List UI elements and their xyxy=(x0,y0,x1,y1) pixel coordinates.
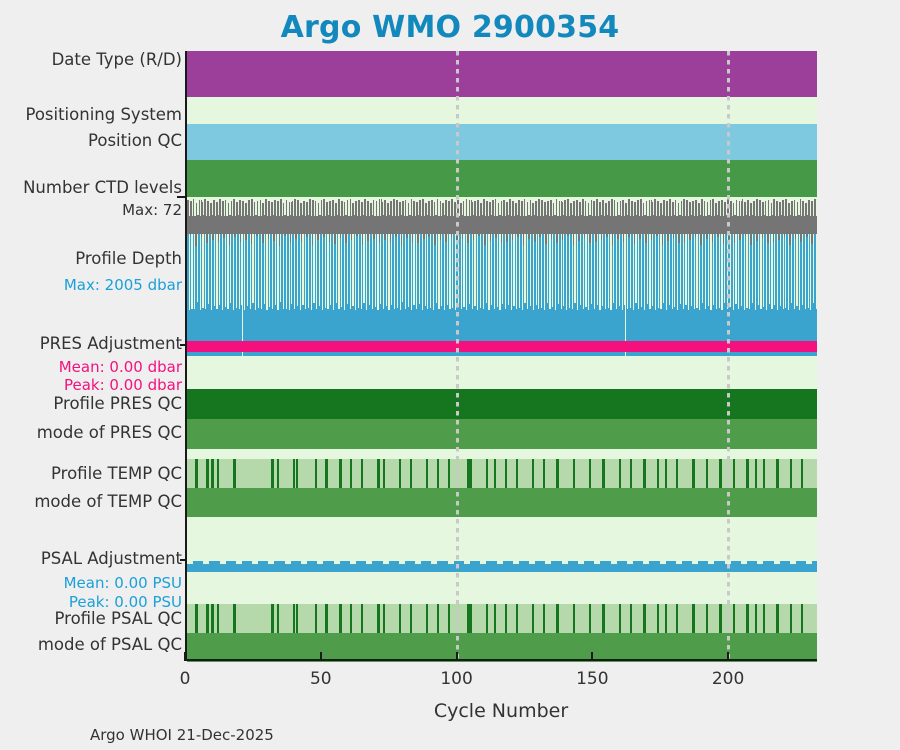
ylabel-ctd-max: Max: 72 xyxy=(122,203,182,218)
psal-adjustment-notch xyxy=(415,561,421,564)
bar-gap xyxy=(344,234,345,310)
band-positioning-system xyxy=(187,124,817,160)
bar-gap xyxy=(383,234,384,309)
bar-gap xyxy=(554,199,555,215)
bar-gap xyxy=(444,234,445,310)
bar-gap xyxy=(791,234,792,303)
bar-gap xyxy=(691,199,692,215)
bar-gap xyxy=(192,199,193,216)
bar-gap xyxy=(652,234,653,306)
bar-gap xyxy=(599,234,600,310)
bar-gap xyxy=(774,234,775,305)
bar-gap xyxy=(810,234,811,310)
bar-gap xyxy=(650,199,651,216)
psal-adjustment-notch xyxy=(806,561,812,564)
bar-gap xyxy=(485,199,486,216)
bar-gap xyxy=(544,234,545,310)
bar-gap xyxy=(241,234,242,305)
bar-gap xyxy=(419,234,420,304)
qc-stripe xyxy=(315,459,318,488)
qc-stripe xyxy=(296,604,299,633)
qc-stripe xyxy=(410,459,413,488)
bar-gap xyxy=(785,234,786,308)
bar-gap xyxy=(700,199,701,215)
bar-gap xyxy=(653,199,654,215)
bar-gap xyxy=(656,199,657,216)
ylabel-psal-mean: Mean: 0.00 PSU xyxy=(64,576,182,591)
bar-gap xyxy=(563,199,564,215)
bar-gap xyxy=(610,234,611,310)
bar-gap xyxy=(795,199,796,216)
qc-stripe xyxy=(665,459,668,488)
bar-gap xyxy=(708,234,709,306)
qc-stripe xyxy=(801,459,804,488)
bar-gap xyxy=(264,234,265,304)
bar-gap xyxy=(337,199,338,215)
bar-gap xyxy=(316,199,317,216)
bar-gap xyxy=(325,199,326,216)
bar-gap xyxy=(361,234,362,309)
bar-gap xyxy=(808,234,809,308)
bar-gap xyxy=(286,234,287,309)
bar-gap xyxy=(211,234,212,310)
qc-stripe xyxy=(377,604,380,633)
bar-gap xyxy=(810,199,811,216)
bar-gap xyxy=(331,199,332,216)
psal-adjustment-notch xyxy=(252,561,258,564)
psal-adjustment-notch xyxy=(366,561,372,564)
psal-adjustment-notch xyxy=(594,561,600,564)
bar-gap xyxy=(438,234,439,309)
bar-gap xyxy=(580,234,581,305)
bar-gap xyxy=(746,199,747,215)
bar-gap xyxy=(586,199,587,216)
bar-gap xyxy=(534,199,535,215)
bar-gap xyxy=(311,199,312,216)
bar-gap xyxy=(392,199,393,216)
bar-gap xyxy=(206,199,207,216)
bar-gap xyxy=(416,234,417,309)
bar-gap xyxy=(233,234,234,310)
x-tick-label-100: 100 xyxy=(417,669,497,689)
bar-gap xyxy=(723,199,724,216)
qc-stripe xyxy=(195,604,198,633)
ylabel-psal-adjustment: PSAL Adjustment xyxy=(41,551,182,568)
psal-adjustment-notch xyxy=(301,561,307,564)
psal-adjustment-notch xyxy=(383,561,389,564)
bar-gap xyxy=(239,234,240,309)
qc-stripe xyxy=(277,459,280,488)
qc-stripe xyxy=(325,459,328,488)
bar-gap xyxy=(476,199,477,216)
bar-gap xyxy=(766,199,767,216)
qc-stripe xyxy=(556,459,559,488)
bar-gap xyxy=(528,199,529,215)
bar-gap xyxy=(604,199,605,216)
bar-gap xyxy=(345,199,346,215)
bar-gap xyxy=(375,234,376,307)
bar-gap xyxy=(380,199,381,216)
x-tick-0 xyxy=(184,652,186,661)
bar-gap xyxy=(409,199,410,215)
bar-gap xyxy=(541,234,542,308)
psal-adjustment-notch xyxy=(187,561,193,564)
bar-gap xyxy=(658,234,659,308)
bar-gap xyxy=(589,199,590,215)
bar-gap xyxy=(252,234,253,303)
ylabel-mode-temp-qc: mode of TEMP QC xyxy=(34,494,182,511)
bar-gap xyxy=(232,199,233,216)
bar-gap xyxy=(469,234,470,304)
bar-gap xyxy=(366,234,367,310)
bar-gap xyxy=(805,234,806,309)
bar-gap xyxy=(499,234,500,310)
bar-gap xyxy=(480,234,481,308)
bar-gap xyxy=(215,199,216,216)
qc-stripe xyxy=(206,459,209,488)
bar-gap xyxy=(277,234,278,310)
bar-gap xyxy=(222,234,223,310)
bar-gap xyxy=(560,199,561,216)
bar-gap xyxy=(311,234,312,310)
bar-gap xyxy=(197,199,198,215)
bar-gap xyxy=(472,234,473,309)
qc-stripe xyxy=(361,459,364,488)
bar-gap xyxy=(397,234,398,308)
x-tick-150 xyxy=(591,652,593,661)
psal-adjustment-notch xyxy=(611,561,617,564)
x-axis-line xyxy=(185,659,817,661)
qc-stripe xyxy=(643,604,646,633)
bar-gap xyxy=(225,234,226,307)
ylabel-profile-pres-qc: Profile PRES QC xyxy=(53,396,182,413)
bar-gap xyxy=(449,234,450,309)
bar-gap xyxy=(287,199,288,216)
bar-gap xyxy=(641,234,642,307)
bar-gap xyxy=(255,199,256,215)
bar-gap xyxy=(372,199,373,215)
bar-gap xyxy=(247,199,248,215)
bar-gap xyxy=(491,199,492,215)
plot-area xyxy=(185,51,817,659)
x-tick-200 xyxy=(727,652,729,661)
bar-gap xyxy=(488,234,489,310)
bar-gap xyxy=(319,234,320,306)
bar-gap xyxy=(430,199,431,216)
bar-gap xyxy=(363,234,364,303)
bar-gap xyxy=(699,234,700,310)
bar-gap xyxy=(336,234,337,303)
bar-gap xyxy=(531,199,532,216)
bar-gap xyxy=(352,234,353,306)
bar-gap xyxy=(267,199,268,216)
bar-gap xyxy=(363,199,364,215)
bar-gap xyxy=(716,234,717,309)
bar-gap xyxy=(270,199,271,216)
bar-gap xyxy=(644,199,645,215)
bar-gap xyxy=(622,234,623,310)
bar-gap xyxy=(415,199,416,216)
psal-adjustment-notch xyxy=(741,561,747,564)
bar-gap xyxy=(269,234,270,307)
qc-stripe xyxy=(556,604,559,633)
bar-gap xyxy=(308,234,309,308)
psal-adjustment-notch xyxy=(317,561,323,564)
bar-gap xyxy=(772,199,773,215)
bar-gap xyxy=(585,234,586,307)
qc-stripe xyxy=(399,459,402,488)
bar-gap xyxy=(597,234,598,305)
bar-gap xyxy=(261,234,262,309)
bar-gap xyxy=(672,234,673,309)
qc-stripe xyxy=(296,459,299,488)
bar-gap xyxy=(575,199,576,216)
bar-gap xyxy=(250,199,251,216)
bar-gap xyxy=(798,199,799,215)
qc-stripe xyxy=(315,604,318,633)
bar-gap xyxy=(357,199,358,216)
bar-gap xyxy=(816,234,817,309)
bar-gap xyxy=(799,234,800,310)
psal-adjustment-notch xyxy=(350,561,356,564)
psal-adjustment-notch xyxy=(480,561,486,564)
bar-gap xyxy=(547,234,548,303)
bar-gap xyxy=(427,199,428,215)
band-mode-temp-qc xyxy=(187,488,817,517)
bar-gap xyxy=(202,234,203,308)
qc-stripe xyxy=(755,604,758,633)
bar-gap xyxy=(639,199,640,216)
band-profile-pres-qc xyxy=(187,389,817,419)
bar-gap xyxy=(230,234,231,303)
bar-gap xyxy=(549,234,550,309)
bar-gap xyxy=(708,199,709,215)
bar-gap xyxy=(355,234,356,310)
bar-gap xyxy=(577,234,578,310)
bar-gap xyxy=(272,234,273,309)
x-tick-50 xyxy=(320,652,322,661)
bar-gap xyxy=(325,234,326,308)
ylabel-pres-mean: Mean: 0.00 dbar xyxy=(59,360,182,375)
bar-gap xyxy=(418,199,419,215)
bar-gap xyxy=(655,234,656,310)
bar-gap xyxy=(680,234,681,304)
bar-gap xyxy=(299,199,300,216)
bar-gap xyxy=(569,234,570,308)
bar-gap xyxy=(208,234,209,304)
psal-adjustment-notch xyxy=(757,561,763,564)
bar-gap xyxy=(721,234,722,310)
bar-gap xyxy=(200,234,201,310)
bar-gap xyxy=(401,199,402,215)
bar-gap xyxy=(338,234,339,309)
bar-gap xyxy=(316,234,317,309)
ylabel-pres-peak: Peak: 0.00 dbar xyxy=(64,378,182,393)
bar-gap xyxy=(366,199,367,216)
bar-gap xyxy=(602,234,603,306)
qc-stripe xyxy=(206,604,209,633)
bar-gap xyxy=(660,234,661,309)
x-tick-label-0: 0 xyxy=(145,669,225,689)
psal-adjustment-notch xyxy=(708,561,714,564)
bar-gap xyxy=(197,234,198,302)
bar-gap xyxy=(314,199,315,216)
bar-gap xyxy=(422,234,423,310)
bar-gap xyxy=(194,234,195,309)
qc-stripe xyxy=(602,604,605,633)
bar-gap xyxy=(668,199,669,216)
bar-gap xyxy=(649,234,650,309)
bar-gap xyxy=(330,234,331,305)
bar-gap xyxy=(255,234,256,310)
psal-adjustment-notch xyxy=(578,561,584,564)
bar-gap xyxy=(794,234,795,309)
bar-gap xyxy=(283,234,284,309)
bar-gap xyxy=(538,234,539,309)
qc-stripe xyxy=(706,604,709,633)
bar-gap xyxy=(702,234,703,303)
bar-gap xyxy=(705,234,706,309)
bar-gap xyxy=(413,234,414,305)
bar-gap xyxy=(218,199,219,215)
bar-gap xyxy=(524,234,525,303)
bar-gap xyxy=(189,199,190,216)
band-position-qc xyxy=(187,160,817,197)
bar-gap xyxy=(607,199,608,215)
bar-gap xyxy=(244,234,245,310)
bar-gap xyxy=(388,234,389,310)
bar-gap xyxy=(663,234,664,303)
bar-gap xyxy=(613,199,614,216)
bar-gap xyxy=(511,234,512,310)
bar-gap xyxy=(735,234,736,304)
bar-gap xyxy=(734,199,735,215)
band-mode-pres-qc xyxy=(187,419,817,449)
qc-stripe xyxy=(350,604,353,633)
bar-gap xyxy=(189,234,190,310)
bar-gap xyxy=(360,199,361,216)
bar-gap xyxy=(552,234,553,307)
bar-gap xyxy=(386,234,387,306)
psal-adjustment-notch xyxy=(203,561,209,564)
bar-gap xyxy=(341,234,342,307)
ylabel-mode-psal-qc: mode of PSAL QC xyxy=(38,637,182,654)
qc-stripe xyxy=(271,604,274,633)
qc-stripe xyxy=(277,604,280,633)
bar-gap xyxy=(221,199,222,216)
bar-gap xyxy=(608,234,609,308)
qc-stripe xyxy=(383,604,386,633)
bar-gap xyxy=(494,234,495,309)
bar-gap xyxy=(574,234,575,303)
bar-gap xyxy=(697,199,698,216)
qc-stripe xyxy=(630,459,633,488)
bar-gap xyxy=(308,199,309,215)
bar-gap xyxy=(595,199,596,216)
qc-stripe xyxy=(602,459,605,488)
bar-gap xyxy=(616,234,617,309)
ylabel-date-type: Date Type (R/D) xyxy=(52,52,182,69)
bar-gap xyxy=(479,199,480,216)
bar-gap xyxy=(720,199,721,216)
bar-gap xyxy=(572,234,573,309)
ylabel-positioning: Positioning System xyxy=(25,107,182,124)
bar-gap xyxy=(775,199,776,216)
bar-gap xyxy=(264,199,265,215)
qc-stripe xyxy=(763,459,766,488)
qc-stripe xyxy=(211,604,214,633)
bar-gap xyxy=(647,234,648,304)
bar-gap xyxy=(760,234,761,309)
qc-stripe xyxy=(801,604,804,633)
bar-gap xyxy=(322,199,323,216)
qc-stripe xyxy=(271,459,274,488)
bar-gap xyxy=(250,234,251,309)
bar-gap xyxy=(588,234,589,310)
bar-gap xyxy=(737,199,738,216)
bar-gap xyxy=(682,199,683,216)
bar-gap xyxy=(796,234,797,306)
bar-gap xyxy=(783,234,784,309)
bar-gap xyxy=(505,199,506,216)
bar-gap xyxy=(319,199,320,215)
bar-gap xyxy=(807,199,808,215)
bar-gap xyxy=(746,234,747,308)
bar-gap xyxy=(813,234,814,303)
qc-stripe xyxy=(217,459,220,488)
bar-gap xyxy=(402,234,403,302)
bar-gap xyxy=(719,234,720,308)
qc-stripe xyxy=(486,604,489,633)
bar-gap xyxy=(505,234,506,309)
bar-gap xyxy=(391,234,392,305)
qc-stripe xyxy=(755,459,758,488)
qc-stripe xyxy=(339,604,342,633)
line-pres-adjustment xyxy=(187,341,817,352)
qc-stripe xyxy=(505,604,508,633)
bar-gap xyxy=(253,199,254,216)
bar-gap xyxy=(502,234,503,304)
bar-gap xyxy=(561,234,562,309)
psal-adjustment-notch xyxy=(692,561,698,564)
qc-stripe xyxy=(532,604,535,633)
bar-gap xyxy=(305,199,306,216)
bar-gap xyxy=(200,199,201,216)
psal-adjustment-notch xyxy=(334,561,340,564)
bar-gap xyxy=(372,234,373,309)
qc-stripe xyxy=(573,459,576,488)
bar-gap xyxy=(749,234,750,309)
psal-adjustment-notch xyxy=(643,561,649,564)
bar-gap xyxy=(212,199,213,215)
bar-gap xyxy=(674,234,675,307)
bar-gap xyxy=(258,234,259,308)
bar-gap xyxy=(592,199,593,216)
bar-gap xyxy=(436,234,437,303)
bar-gap xyxy=(241,199,242,216)
bar-gap xyxy=(400,234,401,310)
bar-gap xyxy=(441,199,442,216)
page-title: Argo WMO 2900354 xyxy=(0,10,900,45)
qc-stripe xyxy=(692,459,695,488)
bar-gap xyxy=(591,234,592,304)
bar-gap xyxy=(740,199,741,216)
qc-stripe xyxy=(619,459,622,488)
bar-gap xyxy=(619,234,620,306)
bar-gap xyxy=(583,234,584,309)
bars-profile-depth xyxy=(187,234,817,356)
line-psal-adjustment xyxy=(187,556,817,572)
